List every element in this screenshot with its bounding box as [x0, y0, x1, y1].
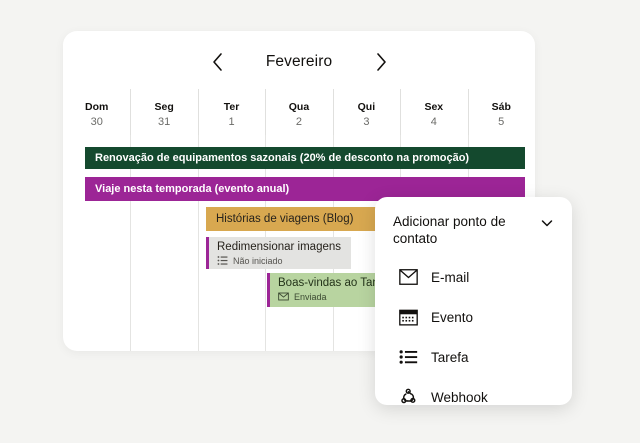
menu-item-label: Webhook [431, 390, 488, 405]
envelope-icon [399, 268, 418, 287]
day-column-qui: Qui 3 [333, 93, 400, 135]
day-name: Qui [358, 101, 376, 113]
day-column-seg: Seg 31 [130, 93, 197, 135]
day-header-row: Dom 30 Seg 31 Ter 1 Qua 2 Qui 3 Sex 4 [63, 93, 535, 135]
day-column-sab: Sáb 5 [468, 93, 535, 135]
day-name: Ter [224, 101, 240, 113]
task-list-icon [217, 255, 228, 266]
calendar-icon [399, 308, 418, 327]
menu-item-task[interactable]: Tarefa [393, 337, 554, 377]
day-number: 1 [228, 116, 234, 128]
day-number: 5 [498, 116, 504, 128]
day-number: 30 [91, 116, 103, 128]
menu-item-label: E-mail [431, 270, 469, 285]
day-number: 4 [431, 116, 437, 128]
add-touchpoint-popup: Adicionar ponto de contato E-mail [375, 197, 572, 405]
menu-item-label: Evento [431, 310, 473, 325]
chevron-left-icon[interactable] [207, 52, 227, 72]
day-number: 3 [363, 116, 369, 128]
day-column-ter: Ter 1 [198, 93, 265, 135]
chevron-right-icon[interactable] [371, 52, 391, 72]
envelope-icon [278, 291, 289, 302]
month-label: Fevereiro [253, 53, 345, 71]
day-number: 2 [296, 116, 302, 128]
day-name: Qua [289, 101, 309, 113]
task-list-icon [399, 348, 418, 367]
event-card-status-label: Enviada [294, 292, 327, 302]
event-card-status: Não iniciado [217, 255, 343, 266]
day-name: Sáb [492, 101, 511, 113]
menu-item-webhook[interactable]: Webhook [393, 377, 554, 417]
event-card-status-label: Não iniciado [233, 256, 283, 266]
event-card-resize-images[interactable]: Redimensionar imagens Não iniciado [206, 237, 351, 269]
month-navigation: Fevereiro [63, 31, 535, 93]
popup-title: Adicionar ponto de contato [393, 213, 532, 247]
webhook-icon [399, 388, 418, 407]
day-column-sex: Sex 4 [400, 93, 467, 135]
day-name: Dom [85, 101, 108, 113]
day-column-dom: Dom 30 [63, 93, 130, 135]
app-root: Fevereiro Dom 30 Seg 31 Ter 1 Qua [0, 0, 640, 443]
day-number: 31 [158, 116, 170, 128]
menu-item-email[interactable]: E-mail [393, 257, 554, 297]
menu-item-event[interactable]: Evento [393, 297, 554, 337]
popup-header: Adicionar ponto de contato [393, 213, 554, 247]
day-name: Sex [424, 101, 443, 113]
event-bar-promotion[interactable]: Renovação de equipamentos sazonais (20% … [85, 147, 525, 169]
chevron-down-icon[interactable] [540, 216, 554, 230]
menu-item-label: Tarefa [431, 350, 469, 365]
day-column-qua: Qua 2 [265, 93, 332, 135]
event-card-title: Redimensionar imagens [217, 240, 343, 254]
day-name: Seg [155, 101, 174, 113]
